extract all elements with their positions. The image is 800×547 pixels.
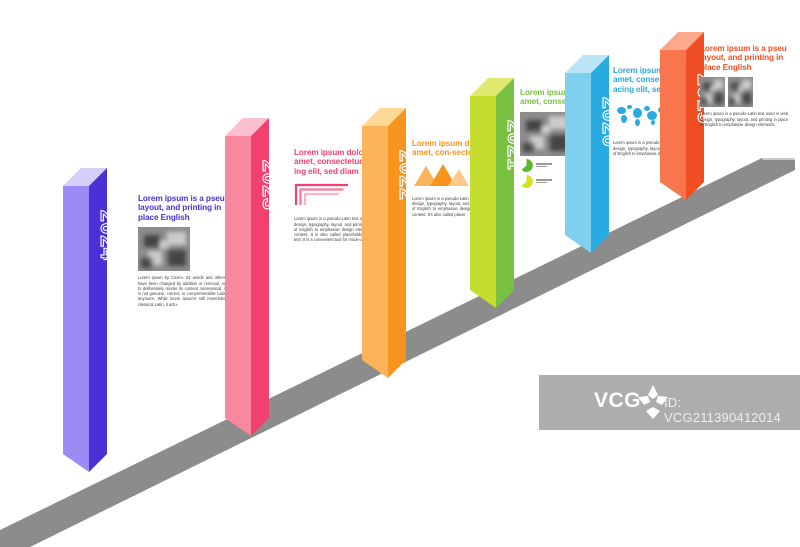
column-side-face [565, 73, 591, 253]
column-side-face [470, 96, 496, 308]
infographic-canvas: 2024Lorem ipsum is a pseu layout, and pr… [0, 0, 800, 547]
column-front-face [388, 108, 406, 378]
column-body [225, 118, 273, 466]
column-side-face [225, 136, 251, 436]
column-body [63, 168, 111, 502]
content-body: Lorem ipsum by Cicero. 51 words and othe… [138, 275, 226, 307]
photo-thumbnail [700, 77, 725, 107]
column-body [565, 55, 613, 283]
column-side-face [660, 50, 686, 200]
column-front-face [591, 55, 609, 253]
legend-label [536, 179, 552, 183]
watermark: VCG ID: VCG211390412014 [539, 375, 800, 430]
column-front-face [89, 168, 107, 472]
photo-thumbnail [728, 77, 753, 107]
mountains-icon [412, 163, 470, 187]
column-body [470, 78, 518, 338]
column-front-face [251, 118, 269, 436]
pie-chart-icon [520, 175, 533, 188]
content-block-2024: Lorem ipsum is a pseu layout, and printi… [138, 194, 226, 307]
content-body: Lorem ipsum is a pseudo-Latin text used … [700, 111, 788, 127]
watermark-brand: VCG [594, 389, 641, 413]
content-heading: Lorem ipsum is a pseu layout, and printi… [138, 194, 226, 222]
bracket-lines-icon [294, 181, 352, 207]
watermark-id: ID: VCG211390412014 [664, 395, 800, 425]
column-body [362, 108, 410, 408]
photo-pair [700, 77, 788, 107]
column-side-face [63, 186, 89, 472]
legend-label [536, 163, 552, 167]
content-block-2019: Lorem ipsum is a pseu layout, and printi… [700, 44, 788, 127]
content-heading: Lorem ipsum is a pseu layout, and printi… [700, 44, 788, 72]
pie-chart-icon [520, 159, 533, 172]
column-front-face [496, 78, 514, 308]
column-side-face [362, 126, 388, 378]
photo-thumbnail [138, 227, 190, 271]
